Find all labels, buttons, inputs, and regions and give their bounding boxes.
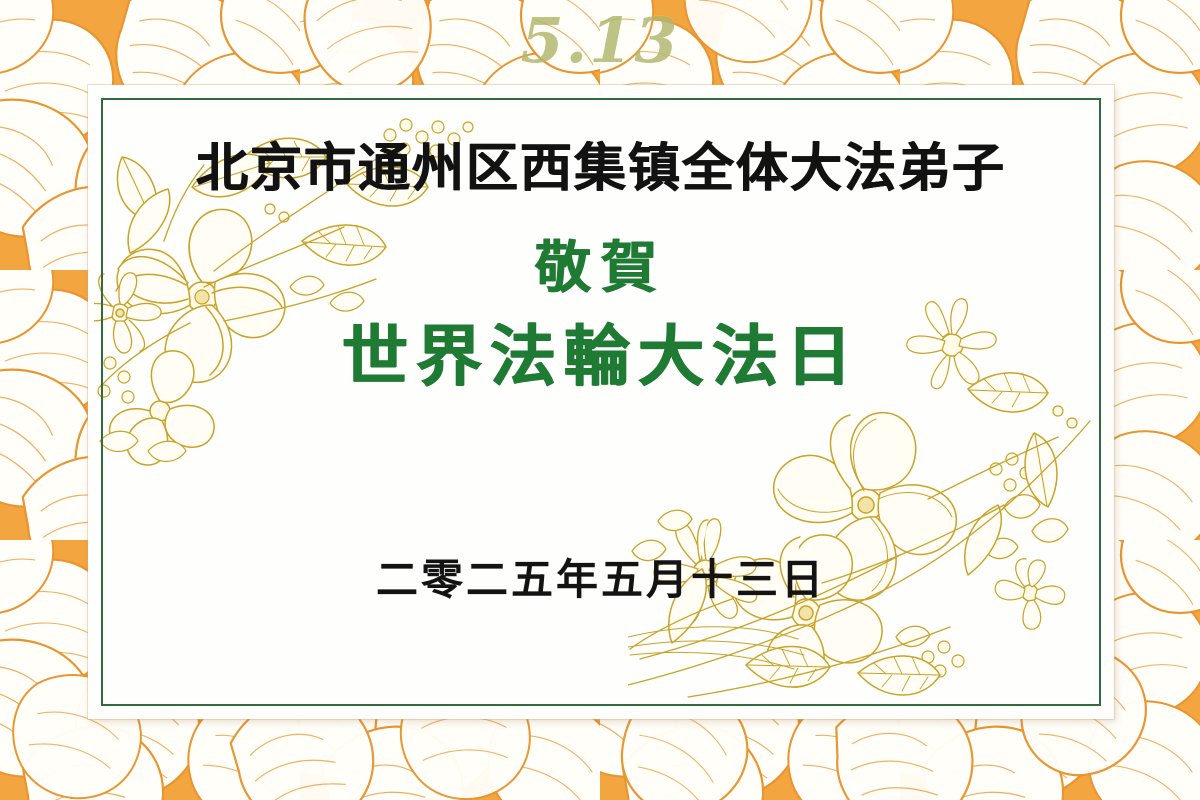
greeting-card-canvas: 5.13 xyxy=(0,0,1200,800)
sender-line: 北京市通州区西集镇全体大法弟子 xyxy=(196,142,1006,196)
card-text-block: 北京市通州区西集镇全体大法弟子 敬賀 世界法輪大法日 二零二五年五月十三日 xyxy=(101,98,1101,706)
salutation-line: 敬賀 xyxy=(535,240,667,297)
greeting-card-panel: 北京市通州区西集镇全体大法弟子 敬賀 世界法輪大法日 二零二五年五月十三日 xyxy=(88,85,1114,719)
occasion-title: 世界法輪大法日 xyxy=(342,323,860,390)
date-line: 二零二五年五月十三日 xyxy=(376,559,826,602)
